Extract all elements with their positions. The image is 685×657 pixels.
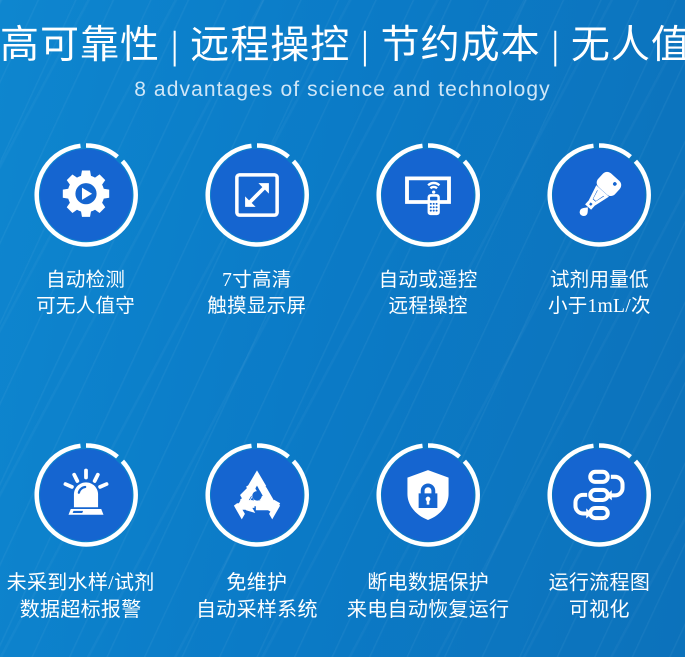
caption-line-1: 试剂用量低 xyxy=(548,268,651,294)
advantage-caption-7: 断电数据保护 来电自动恢复运行 xyxy=(347,570,509,624)
caption-line-1: 运行流程图 xyxy=(549,570,651,597)
advantages-row-1: 自动检测 可无人值守 xyxy=(0,138,685,320)
caption-line-2: 可无人值守 xyxy=(36,294,135,320)
advantage-caption-8: 运行流程图 可视化 xyxy=(549,570,651,624)
advantage-item-4[interactable]: 试剂用量低 小于1mL/次 xyxy=(514,138,685,320)
advantage-item-1[interactable]: 自动检测 可无人值守 xyxy=(0,138,171,320)
caption-line-2: 触摸显示屏 xyxy=(207,294,306,320)
caption-line-2: 远程操控 xyxy=(379,294,478,320)
poster-header: 高可靠性 | 远程操控 | 节约成本 | 无人值守 8 advantages o… xyxy=(0,0,685,103)
badge-5 xyxy=(29,438,143,552)
expand-screen-icon xyxy=(229,167,285,223)
caption-line-2: 小于1mL/次 xyxy=(548,294,651,320)
caption-line-2: 可视化 xyxy=(549,597,651,624)
caption-line-1: 7寸高清 xyxy=(207,268,306,294)
badge-4 xyxy=(542,138,656,252)
advantage-item-5[interactable]: 未采到水样/试剂 数据超标报警 xyxy=(0,438,171,624)
badge-2 xyxy=(200,138,314,252)
caption-line-2: 来电自动恢复运行 xyxy=(347,597,509,624)
alarm-siren-icon xyxy=(58,467,114,523)
advantages-grid: 自动检测 可无人值守 xyxy=(0,138,685,624)
advantages-row-2: 未采到水样/试剂 数据超标报警 xyxy=(0,438,685,624)
badge-6 xyxy=(200,438,314,552)
recycle-icon xyxy=(229,467,285,523)
badge-1 xyxy=(29,138,143,252)
badge-7 xyxy=(371,438,485,552)
caption-line-2: 数据超标报警 xyxy=(7,597,155,624)
advantage-caption-5: 未采到水样/试剂 数据超标报警 xyxy=(7,570,155,624)
advantage-caption-1: 自动检测 可无人值守 xyxy=(36,268,135,320)
flowchart-loop-icon xyxy=(571,467,627,523)
advantage-caption-4: 试剂用量低 小于1mL/次 xyxy=(548,268,651,320)
advantage-caption-6: 免维护 自动采样系统 xyxy=(196,570,318,624)
advantage-item-6[interactable]: 免维护 自动采样系统 xyxy=(171,438,342,624)
advantage-caption-2: 7寸高清 触摸显示屏 xyxy=(207,268,306,320)
caption-line-1: 自动或遥控 xyxy=(379,268,478,294)
caption-line-1: 未采到水样/试剂 xyxy=(7,570,155,597)
dropper-pipette-icon xyxy=(571,167,627,223)
advantage-caption-3: 自动或遥控 远程操控 xyxy=(379,268,478,320)
advantages-poster: 高可靠性 | 远程操控 | 节约成本 | 无人值守 8 advantages o… xyxy=(0,0,685,657)
caption-line-2: 自动采样系统 xyxy=(196,597,318,624)
page-title: 高可靠性 | 远程操控 | 节约成本 | 无人值守 xyxy=(0,0,685,70)
advantage-item-7[interactable]: 断电数据保护 来电自动恢复运行 xyxy=(343,438,514,624)
advantage-item-8[interactable]: 运行流程图 可视化 xyxy=(514,438,685,624)
caption-line-1: 自动检测 xyxy=(36,268,135,294)
caption-line-1: 免维护 xyxy=(196,570,318,597)
advantage-item-3[interactable]: 自动或遥控 远程操控 xyxy=(343,138,514,320)
monitor-remote-wifi-icon xyxy=(400,167,456,223)
caption-line-1: 断电数据保护 xyxy=(347,570,509,597)
page-subtitle: 8 advantages of science and technology xyxy=(0,70,685,103)
badge-8 xyxy=(542,438,656,552)
gear-play-icon xyxy=(58,167,114,223)
shield-lock-icon xyxy=(400,467,456,523)
badge-3 xyxy=(371,138,485,252)
advantage-item-2[interactable]: 7寸高清 触摸显示屏 xyxy=(171,138,342,320)
